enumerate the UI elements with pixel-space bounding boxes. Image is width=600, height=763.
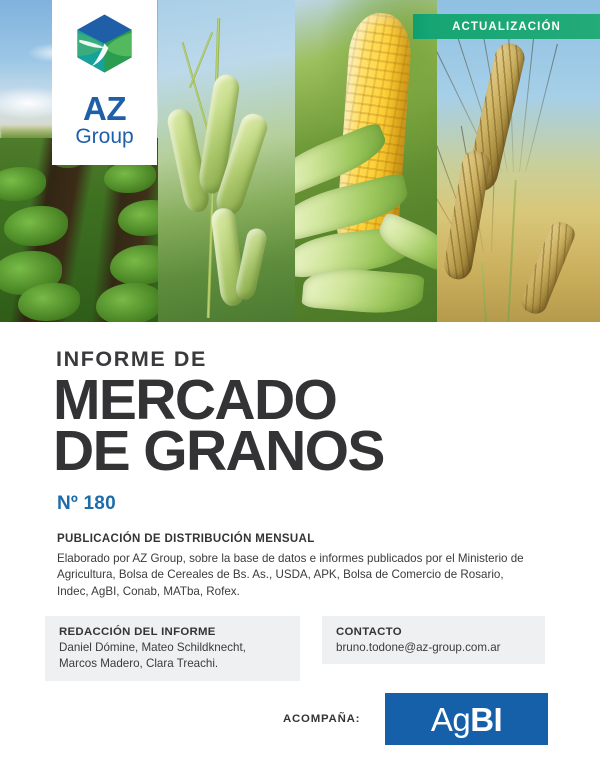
strip-soybean-pods-photo: [158, 0, 295, 322]
logo-group-text: Group: [75, 126, 133, 148]
strip-wheat-ears-photo: [437, 0, 600, 322]
page-title-line2: DE GRANOS: [53, 425, 600, 479]
sponsor-footer: ACOMPAÑA: AgBI: [0, 690, 600, 763]
az-hexagon-leaf-icon: [73, 12, 136, 80]
logo-az-text: AZ: [83, 92, 126, 125]
agbi-light-part: Ag: [431, 701, 470, 738]
strip-corn-cob-photo: [295, 0, 437, 322]
sources-blurb: Elaborado por AZ Group, sobre la base de…: [57, 551, 527, 600]
page-title: MERCADO DE GRANOS: [53, 374, 600, 479]
az-group-logo: AZ Group: [52, 0, 157, 165]
accompany-label: ACOMPAÑA:: [283, 713, 360, 725]
agbi-bold-part: BI: [470, 701, 502, 738]
contact-box: CONTACTO bruno.todone@az-group.com.ar: [322, 616, 545, 664]
distribution-subheading: PUBLICACIÓN DE DISTRIBUCIÓN MENSUAL: [57, 533, 600, 545]
editorial-line-2: Marcos Madero, Clara Treachi.: [59, 656, 300, 672]
contact-email[interactable]: bruno.todone@az-group.com.ar: [336, 640, 545, 656]
editorial-line-1: Daniel Dómine, Mateo Schildknecht,: [59, 640, 300, 656]
editorial-title: REDACCIÓN DEL INFORME: [59, 626, 300, 638]
cover-content: INFORME DE MERCADO DE GRANOS Nº 180 PUBL…: [0, 322, 600, 684]
editorial-box: REDACCIÓN DEL INFORME Daniel Dómine, Mat…: [45, 616, 300, 681]
issue-number: Nº 180: [57, 493, 600, 515]
status-badge-actualizacion: ACTUALIZACIÓN: [413, 14, 600, 39]
agbi-sponsor-logo: AgBI: [385, 693, 548, 745]
credits-row: REDACCIÓN DEL INFORME Daniel Dómine, Mat…: [0, 616, 600, 684]
contact-title: CONTACTO: [336, 626, 545, 638]
hero-image-band: AZ Group ACTUALIZACIÓN: [0, 0, 600, 322]
agbi-logo-text: AgBI: [431, 703, 502, 736]
badge-label: ACTUALIZACIÓN: [452, 21, 561, 33]
